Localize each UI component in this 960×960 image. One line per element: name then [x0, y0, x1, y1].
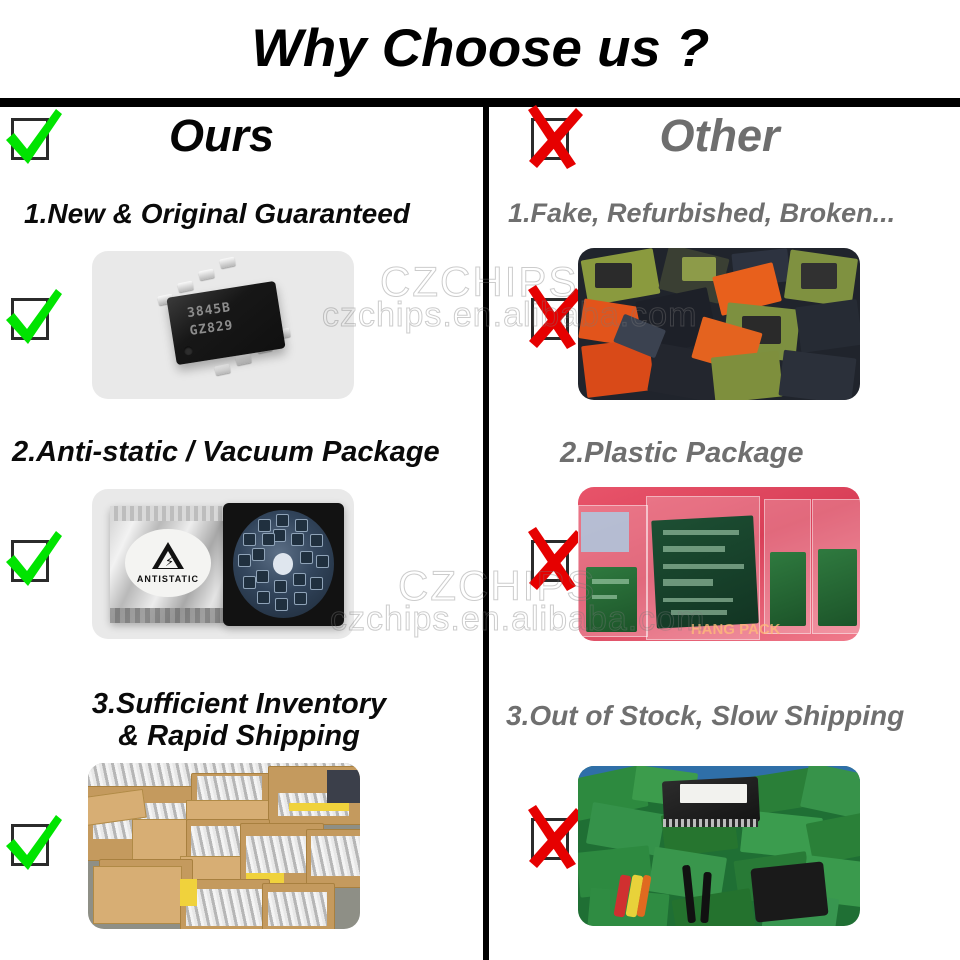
check-mark-icon-row-2 [8, 534, 54, 586]
column-header-ours: Ours [0, 104, 483, 182]
check-mark-icon [0, 808, 66, 880]
reel-hub [273, 553, 293, 575]
inventory-boxes-photo [88, 763, 360, 929]
cross-mark-icon [520, 282, 586, 354]
photo-row-1-ours: 3845B GZ829 [92, 251, 354, 399]
antistatic-bag: ⚡ ANTISTATIC [110, 506, 225, 623]
chip-photo: 3845B GZ829 [92, 251, 354, 399]
row-1-label-other: 1.Fake, Refurbished, Broken... [508, 198, 954, 228]
reel-disc [233, 510, 334, 618]
photo-row-2-ours: ⚡ ANTISTATIC [92, 489, 354, 639]
chip-marking: 3845B GZ829 [185, 293, 277, 340]
check-mark-icon [0, 524, 66, 596]
page-title: Why Choose us ? [251, 18, 709, 79]
cross-mark-icon-header [528, 112, 574, 164]
esd-warning-icon: ⚡ [152, 542, 184, 569]
check-mark-icon-row-3 [8, 818, 54, 870]
check-mark-icon-row-1 [8, 292, 54, 344]
photo-row-1-other [578, 248, 860, 400]
plastic-package-photo: HANG PACK [578, 487, 860, 641]
cross-mark-icon-row-1 [528, 292, 574, 344]
tape-reel [223, 503, 344, 626]
column-label-ours: Ours [0, 110, 483, 162]
row-2-label-other: 2.Plastic Package [560, 437, 956, 469]
row-3-label-ours-line1: 3.Sufficient Inventory [24, 688, 454, 720]
photo-row-3-other [578, 766, 860, 926]
cross-mark-icon [520, 524, 586, 596]
column-divider-vertical [483, 104, 489, 960]
check-mark-icon-header [8, 112, 54, 164]
chip-pin1-dot [183, 346, 193, 356]
photo-row-3-ours [88, 763, 360, 929]
page-title-wrap: Why Choose us ? [0, 18, 960, 79]
cross-mark-icon-row-2 [528, 534, 574, 586]
check-mark-icon [0, 102, 66, 174]
antistatic-package-photo: ⚡ ANTISTATIC [92, 489, 354, 639]
row-1-label-ours: 1.New & Original Guaranteed [24, 198, 474, 229]
chip-body: 3845B GZ829 [166, 281, 285, 365]
cross-mark-icon-row-3 [528, 812, 574, 864]
scrap-chips-photo [578, 248, 860, 400]
scrap-pcb-photo [578, 766, 860, 926]
comparison-infographic: Why Choose us ? Ours Other 1.New & Origi… [0, 0, 960, 960]
photo-row-2-other: HANG PACK [578, 487, 860, 641]
cross-mark-icon [520, 802, 586, 874]
row-2-label-ours: 2.Anti-static / Vacuum Package [12, 436, 480, 468]
row-3-label-ours-line2: & Rapid Shipping [24, 720, 454, 752]
pack-brand-text: HANG PACK [691, 621, 781, 638]
module-label [680, 784, 748, 803]
row-3-label-other: 3.Out of Stock, Slow Shipping [506, 700, 956, 731]
black-pad [750, 862, 829, 924]
cross-mark-icon [520, 102, 586, 174]
row-3-label-ours: 3.Sufficient Inventory & Rapid Shipping [24, 688, 454, 753]
antistatic-label: ⚡ ANTISTATIC [125, 529, 210, 597]
lightning-bolt-icon: ⚡ [165, 555, 174, 568]
check-mark-icon [0, 282, 66, 354]
